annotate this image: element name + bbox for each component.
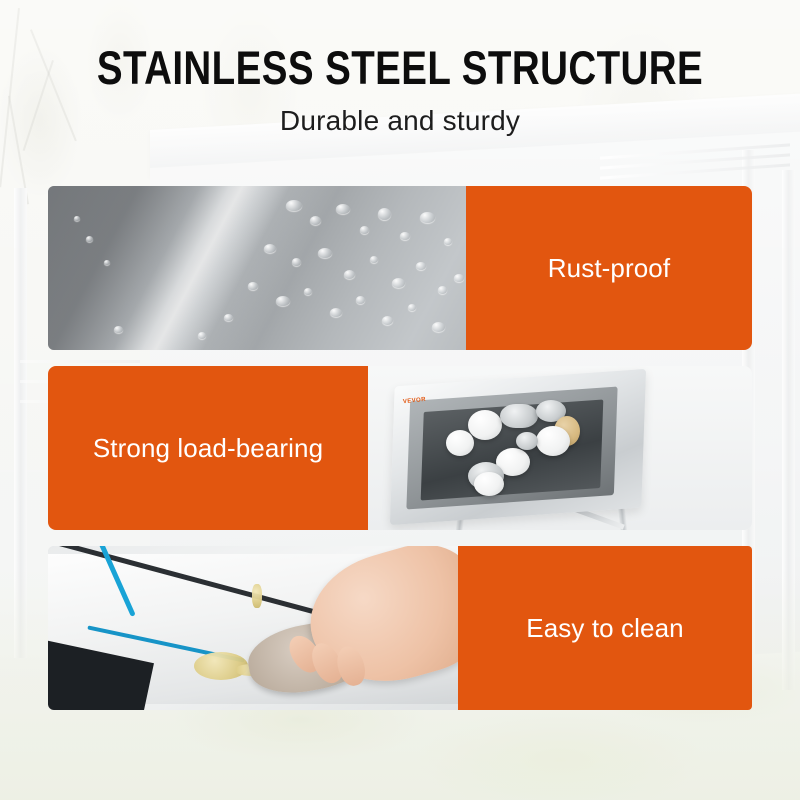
- feature-list: Rust-proof Strong load-bearing VEVOR: [48, 186, 752, 710]
- feature-row-rust-proof: Rust-proof: [48, 186, 752, 350]
- feature-photo-hand-wiping: [48, 546, 458, 710]
- feature-label: Strong load-bearing: [48, 433, 368, 464]
- bowl: [536, 426, 570, 456]
- feature-label-panel-rust-proof[interactable]: Rust-proof: [466, 186, 752, 350]
- water-droplets-group: [48, 186, 466, 350]
- feature-label-panel-load-bearing[interactable]: Strong load-bearing: [48, 366, 368, 530]
- bowl: [474, 472, 504, 496]
- bowl: [468, 410, 502, 440]
- feature-label: Easy to clean: [458, 613, 752, 644]
- bowl: [516, 432, 538, 450]
- liquid-spill: [252, 584, 262, 608]
- feature-row-load-bearing: Strong load-bearing VEVOR: [48, 366, 752, 530]
- page-title: STAINLESS STEEL STRUCTURE: [72, 44, 728, 91]
- header: STAINLESS STEEL STRUCTURE Durable and st…: [0, 0, 800, 137]
- feature-photo-sink-with-bowls: VEVOR: [368, 366, 752, 530]
- wipe-scene: [48, 546, 458, 710]
- bowl: [500, 404, 538, 428]
- feature-label-panel-easy-to-clean[interactable]: Easy to clean: [458, 546, 752, 710]
- feature-label: Rust-proof: [466, 253, 752, 284]
- feature-row-easy-to-clean: Easy to clean: [48, 546, 752, 710]
- page-subtitle: Durable and sturdy: [0, 105, 800, 137]
- sink-scene: VEVOR: [368, 366, 752, 530]
- bowl: [446, 430, 474, 456]
- feature-photo-water-droplets: [48, 186, 466, 350]
